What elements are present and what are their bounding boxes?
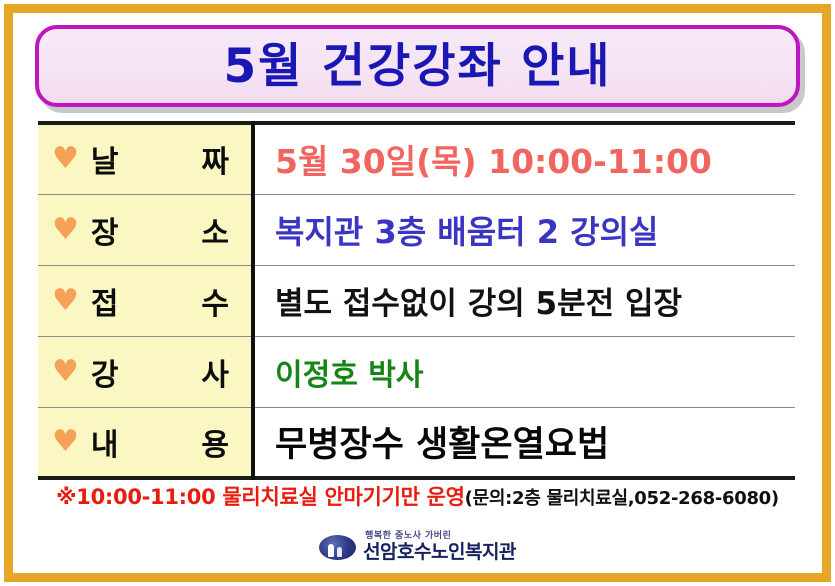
lecture-topic-value: 무병장수 생활온열요법 xyxy=(275,425,609,465)
row-label-date-char2: 짜 xyxy=(201,137,229,181)
lecturer-name-value: 이정호 박사 xyxy=(275,358,423,393)
row-value-cell-lecturer: 이정호 박사 xyxy=(253,336,795,407)
organization-name: 선암호수노인복지관 xyxy=(363,543,516,562)
table-row: ♥ 장 소 복지관 3층 배움터 2 강의실 xyxy=(38,194,795,265)
heart-icon: ♥ xyxy=(52,357,79,387)
lecture-info-table: ♥ 날 짜 5월 30일(목) 10:00-11:00 ♥ xyxy=(38,121,795,480)
logo-tagline: 행복한 중노사 가버린 xyxy=(365,532,451,541)
row-label-cell-topic: ♥ 내 용 xyxy=(38,407,253,478)
row-label-cell-date: ♥ 날 짜 xyxy=(38,123,253,194)
row-label-lecturer-char1: 강 xyxy=(91,350,119,394)
row-value-cell-date: 5월 30일(목) 10:00-11:00 xyxy=(253,123,795,194)
row-label-lecturer-char2: 사 xyxy=(201,350,229,394)
page-title: 5월 건강강좌 안내 xyxy=(223,43,611,90)
row-label-date-char1: 날 xyxy=(91,137,119,181)
lecture-place-value: 복지관 3층 배움터 2 강의실 xyxy=(275,213,659,251)
footnote: ※10:00-11:00 물리치료실 안마기기만 운영(문의:2층 물리치료실,… xyxy=(0,481,835,511)
row-label-topic-char2: 용 xyxy=(201,420,229,464)
row-label-cell-lecturer: ♥ 강 사 xyxy=(38,336,253,407)
row-label-application-char2: 수 xyxy=(201,279,229,323)
footnote-contact-text: (문의:2층 물리치료실,052-268-6080) xyxy=(465,488,779,509)
row-label-place-char1: 장 xyxy=(91,208,119,252)
heart-icon: ♥ xyxy=(52,427,79,457)
heart-icon: ♥ xyxy=(52,286,79,316)
organization-logo: 행복한 중노사 가버린 선암호수노인복지관 xyxy=(0,532,835,562)
table-row: ♥ 날 짜 5월 30일(목) 10:00-11:00 xyxy=(38,123,795,194)
table-row: ♥ 강 사 이정호 박사 xyxy=(38,336,795,407)
heart-icon: ♥ xyxy=(52,144,79,174)
row-value-cell-application: 별도 접수없이 강의 5분전 입장 xyxy=(253,265,795,336)
lecture-date-value: 5월 30일(목) 10:00-11:00 xyxy=(275,142,712,181)
heart-icon: ♥ xyxy=(52,215,79,245)
row-label-topic-char1: 내 xyxy=(91,420,119,464)
poster-root: 5월 건강강좌 안내 ♥ 날 짜 5월 30일(목) 10:00-11:00 xyxy=(0,0,835,586)
welfare-center-emblem-icon xyxy=(319,535,356,560)
table-row: ♥ 접 수 별도 접수없이 강의 5분전 입장 xyxy=(38,265,795,336)
row-label-place-char2: 소 xyxy=(201,208,229,252)
title-banner: 5월 건강강좌 안내 xyxy=(35,25,800,107)
row-value-cell-place: 복지관 3층 배움터 2 강의실 xyxy=(253,194,795,265)
row-label-cell-application: ♥ 접 수 xyxy=(38,265,253,336)
lecture-application-value: 별도 접수없이 강의 5분전 입장 xyxy=(275,286,682,322)
row-label-application-char1: 접 xyxy=(91,279,119,323)
table-row: ♥ 내 용 무병장수 생활온열요법 xyxy=(38,407,795,478)
footnote-notice-text: ※10:00-11:00 물리치료실 안마기기만 운영 xyxy=(56,485,465,509)
row-label-cell-place: ♥ 장 소 xyxy=(38,194,253,265)
row-value-cell-topic: 무병장수 생활온열요법 xyxy=(253,407,795,478)
title-banner-box: 5월 건강강좌 안내 xyxy=(35,25,800,107)
